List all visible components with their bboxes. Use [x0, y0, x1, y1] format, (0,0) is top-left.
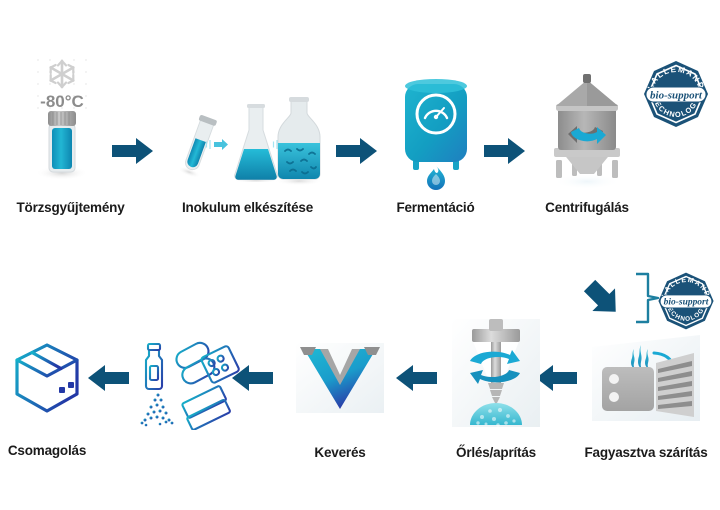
arrow-right-2 [336, 136, 378, 171]
culture-bottle-icon [268, 97, 330, 190]
step-packaging[interactable]: Csomagolás [8, 338, 86, 458]
flame-icon [427, 166, 445, 190]
step-label: Inokulum elkészítése [182, 200, 313, 215]
step-label: Centrifugálás [545, 200, 629, 215]
step-label: Őrlés/aprítás [456, 445, 536, 460]
step-centrifugation[interactable]: Centrifugálás [528, 55, 646, 215]
step-label: Fagyasztva szárítás [584, 445, 707, 460]
fermenter-tank-icon [393, 62, 479, 192]
cryo-vial-icon: -80°C [16, 52, 126, 182]
step-label: Keverés [314, 445, 365, 460]
step-label: Csomagolás [8, 443, 86, 458]
arrow-right-1 [112, 136, 154, 171]
step-product-forms[interactable] [132, 330, 242, 430]
step-strain-collection[interactable]: -80°C Törzsgyűjtemény [8, 55, 133, 215]
step-freeze-drying[interactable]: Fagyasztva szárítás [576, 320, 716, 460]
badge-top: LALLEMAND TECHNOLOGY bio-support [640, 58, 712, 135]
package-box-icon [9, 339, 85, 419]
badge-center-text: bio-support [650, 89, 703, 101]
step-label: Fermentáció [396, 200, 474, 215]
grinder-auger-icon [448, 313, 544, 433]
step-blending[interactable]: Keverés [284, 340, 396, 460]
badge-center-text: bio-support [664, 298, 709, 308]
arrow-right-3 [484, 136, 526, 171]
step-milling[interactable]: Őrlés/aprítás [440, 300, 552, 460]
arrow-left-5 [396, 363, 438, 398]
step-label: Törzsgyűjtemény [16, 200, 124, 215]
arrow-left-7 [88, 363, 130, 398]
freeze-dryer-icon [586, 329, 706, 429]
centrifuge-icon [532, 62, 642, 192]
arrow-down-right-wrap [582, 278, 624, 325]
process-flow-diagram: -80°C Törzsgyűjtemény [0, 0, 720, 510]
product-forms-icon [133, 334, 241, 430]
step-fermentation[interactable]: Fermentáció [378, 55, 493, 215]
v-blender-icon [294, 339, 386, 417]
cryo-temperature-label: -80°C [40, 92, 84, 111]
